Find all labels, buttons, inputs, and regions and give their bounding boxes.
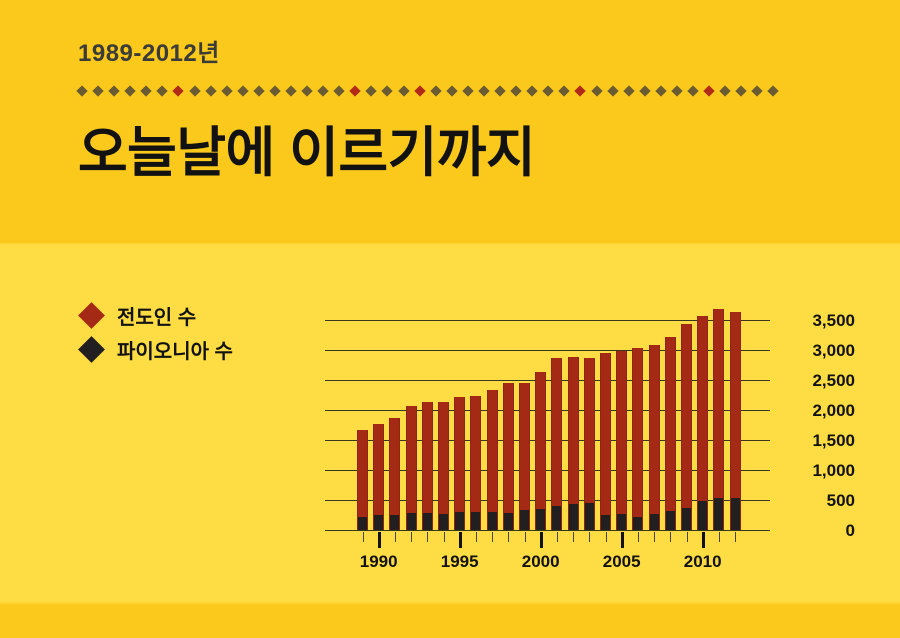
footer-band-torn-edge (0, 601, 900, 607)
bar-segment-pioneers (358, 517, 367, 530)
x-axis-major-tick (378, 532, 381, 548)
x-axis-minor-tick (395, 532, 396, 542)
x-axis-minor-tick (606, 532, 607, 542)
bar (568, 357, 579, 530)
diamond-dot-icon (478, 85, 489, 96)
y-axis-tick-label: 3,500 (785, 311, 855, 331)
bar (422, 402, 433, 530)
diamond-dot-icon (141, 85, 152, 96)
x-axis-minor-tick (654, 532, 655, 542)
bar (681, 324, 692, 530)
diamond-dot-icon (752, 85, 763, 96)
legend-label-publishers: 전도인 수 (117, 301, 196, 330)
x-axis-major-tick (459, 532, 462, 548)
bar (584, 358, 595, 530)
bar-segment-pioneers (488, 512, 497, 530)
y-axis-tick-label: 0 (785, 521, 855, 541)
bar (470, 396, 481, 530)
diamond-dot-icon (398, 85, 409, 96)
bar (487, 390, 498, 530)
x-axis-tick-label: 2010 (668, 552, 738, 572)
diamond-dot-icon (189, 85, 200, 96)
x-axis-minor-tick (444, 532, 445, 542)
x-axis-minor-tick (508, 532, 509, 542)
diamond-rule (78, 84, 778, 98)
diamond-dot-icon (173, 85, 184, 96)
x-axis-minor-tick (670, 532, 671, 542)
x-axis-minor-tick (363, 532, 364, 542)
bar (713, 309, 724, 530)
bar (649, 345, 660, 530)
diamond-dot-icon (671, 85, 682, 96)
bar-segment-pioneers (601, 515, 610, 530)
diamond-dot-icon (366, 85, 377, 96)
bar-segment-pioneers (650, 514, 659, 530)
chart-legend: 전도인 수 파이오니아 수 (82, 300, 233, 368)
diamond-dot-icon (125, 85, 136, 96)
legend-swatch-black-diamond-icon (78, 336, 105, 363)
bar (730, 312, 741, 530)
diamond-dot-icon (527, 85, 538, 96)
bar-segment-pioneers (731, 498, 740, 530)
bar (373, 424, 384, 530)
bar (454, 397, 465, 530)
bar (438, 402, 449, 530)
diamond-dot-icon (334, 85, 345, 96)
bar-segment-pioneers (439, 514, 448, 530)
diamond-dot-icon (269, 85, 280, 96)
diamond-dot-icon (543, 85, 554, 96)
bar-segment-pioneers (536, 509, 545, 530)
bar (551, 358, 562, 530)
x-axis-minor-tick (525, 532, 526, 542)
bar-chart: 05001,0001,5002,0002,5003,0003,500199019… (325, 290, 770, 530)
bar-segment-pioneers (520, 510, 529, 530)
bar-segment-pioneers (617, 514, 626, 530)
diamond-dot-icon (575, 85, 586, 96)
x-axis-minor-tick (573, 532, 574, 542)
x-axis-minor-tick (557, 532, 558, 542)
bar (519, 383, 530, 530)
x-axis-major-tick (621, 532, 624, 548)
diamond-dot-icon (719, 85, 730, 96)
diamond-dot-icon (382, 85, 393, 96)
diamond-dot-icon (237, 85, 248, 96)
page-title: 오늘날에 이르기까지 (78, 108, 535, 187)
diamond-dot-icon (205, 85, 216, 96)
bar (503, 383, 514, 530)
diamond-dot-icon (462, 85, 473, 96)
diamond-dot-icon (253, 85, 264, 96)
diamond-dot-icon (301, 85, 312, 96)
x-axis-tick-label: 1990 (344, 552, 414, 572)
date-range-eyebrow: 1989-2012년 (78, 33, 220, 68)
x-axis-minor-tick (427, 532, 428, 542)
x-axis-tick-label: 2000 (506, 552, 576, 572)
bar-segment-pioneers (455, 512, 464, 530)
y-axis-tick-label: 1,500 (785, 431, 855, 451)
bar (697, 316, 708, 530)
bar-segment-pioneers (423, 513, 432, 530)
header-band-torn-edge (0, 239, 900, 245)
diamond-dot-icon (736, 85, 747, 96)
bar-segment-pioneers (698, 501, 707, 530)
legend-item-publishers: 전도인 수 (82, 300, 233, 330)
footer-band (0, 605, 900, 638)
diamond-dot-icon (157, 85, 168, 96)
x-axis-minor-tick (719, 532, 720, 542)
diamond-dot-icon (510, 85, 521, 96)
x-axis-major-tick (702, 532, 705, 548)
diamond-dot-icon (414, 85, 425, 96)
bar-segment-pioneers (585, 503, 594, 530)
y-axis-tick-label: 2,000 (785, 401, 855, 421)
x-axis-tick-label: 1995 (425, 552, 495, 572)
x-axis-tick-label: 2005 (587, 552, 657, 572)
bar-segment-pioneers (569, 504, 578, 530)
bar (535, 372, 546, 530)
diamond-dot-icon (623, 85, 634, 96)
diamond-dot-icon (591, 85, 602, 96)
bar-segment-pioneers (504, 513, 513, 530)
diamond-dot-icon (350, 85, 361, 96)
x-axis-minor-tick (589, 532, 590, 542)
bar (632, 348, 643, 530)
bar-segment-pioneers (552, 506, 561, 530)
bar-segment-pioneers (407, 513, 416, 530)
diamond-dot-icon (92, 85, 103, 96)
diamond-dot-icon (559, 85, 570, 96)
bar-segment-pioneers (666, 511, 675, 530)
diamond-dot-icon (446, 85, 457, 96)
y-axis-tick-label: 3,000 (785, 341, 855, 361)
bar-segment-pioneers (682, 508, 691, 530)
diamond-dot-icon (318, 85, 329, 96)
diamond-dot-icon (607, 85, 618, 96)
diamond-dot-icon (639, 85, 650, 96)
legend-item-pioneers: 파이오니아 수 (82, 334, 233, 364)
bar (600, 353, 611, 530)
x-axis-minor-tick (411, 532, 412, 542)
legend-swatch-red-diamond-icon (78, 302, 105, 329)
legend-label-pioneers: 파이오니아 수 (117, 335, 233, 364)
bar-segment-pioneers (633, 517, 642, 530)
bar (389, 418, 400, 530)
x-axis-minor-tick (638, 532, 639, 542)
y-axis-tick-label: 500 (785, 491, 855, 511)
diamond-dot-icon (430, 85, 441, 96)
diamond-dot-icon (108, 85, 119, 96)
diamond-dot-icon (703, 85, 714, 96)
diamond-dot-icon (285, 85, 296, 96)
bar (406, 406, 417, 530)
diamond-dot-icon (687, 85, 698, 96)
bar (665, 337, 676, 530)
x-axis-major-tick (540, 532, 543, 548)
diamond-dot-icon (655, 85, 666, 96)
bar (616, 351, 627, 530)
x-axis-minor-tick (687, 532, 688, 542)
x-axis-minor-tick (476, 532, 477, 542)
diamond-dot-icon (768, 85, 779, 96)
diamond-dot-icon (221, 85, 232, 96)
bar-segment-pioneers (374, 515, 383, 530)
y-axis-tick-label: 2,500 (785, 371, 855, 391)
x-axis-line (325, 530, 770, 531)
x-axis-minor-tick (735, 532, 736, 542)
bar-segment-pioneers (714, 498, 723, 530)
infographic-page: 1989-2012년 오늘날에 이르기까지 전도인 수 파이오니아 수 0500… (0, 0, 900, 638)
x-axis-minor-tick (492, 532, 493, 542)
diamond-dot-icon (494, 85, 505, 96)
y-axis-tick-label: 1,000 (785, 461, 855, 481)
diamond-dot-icon (76, 85, 87, 96)
bar-segment-pioneers (471, 512, 480, 530)
bar-segment-pioneers (390, 515, 399, 530)
bar (357, 430, 368, 530)
